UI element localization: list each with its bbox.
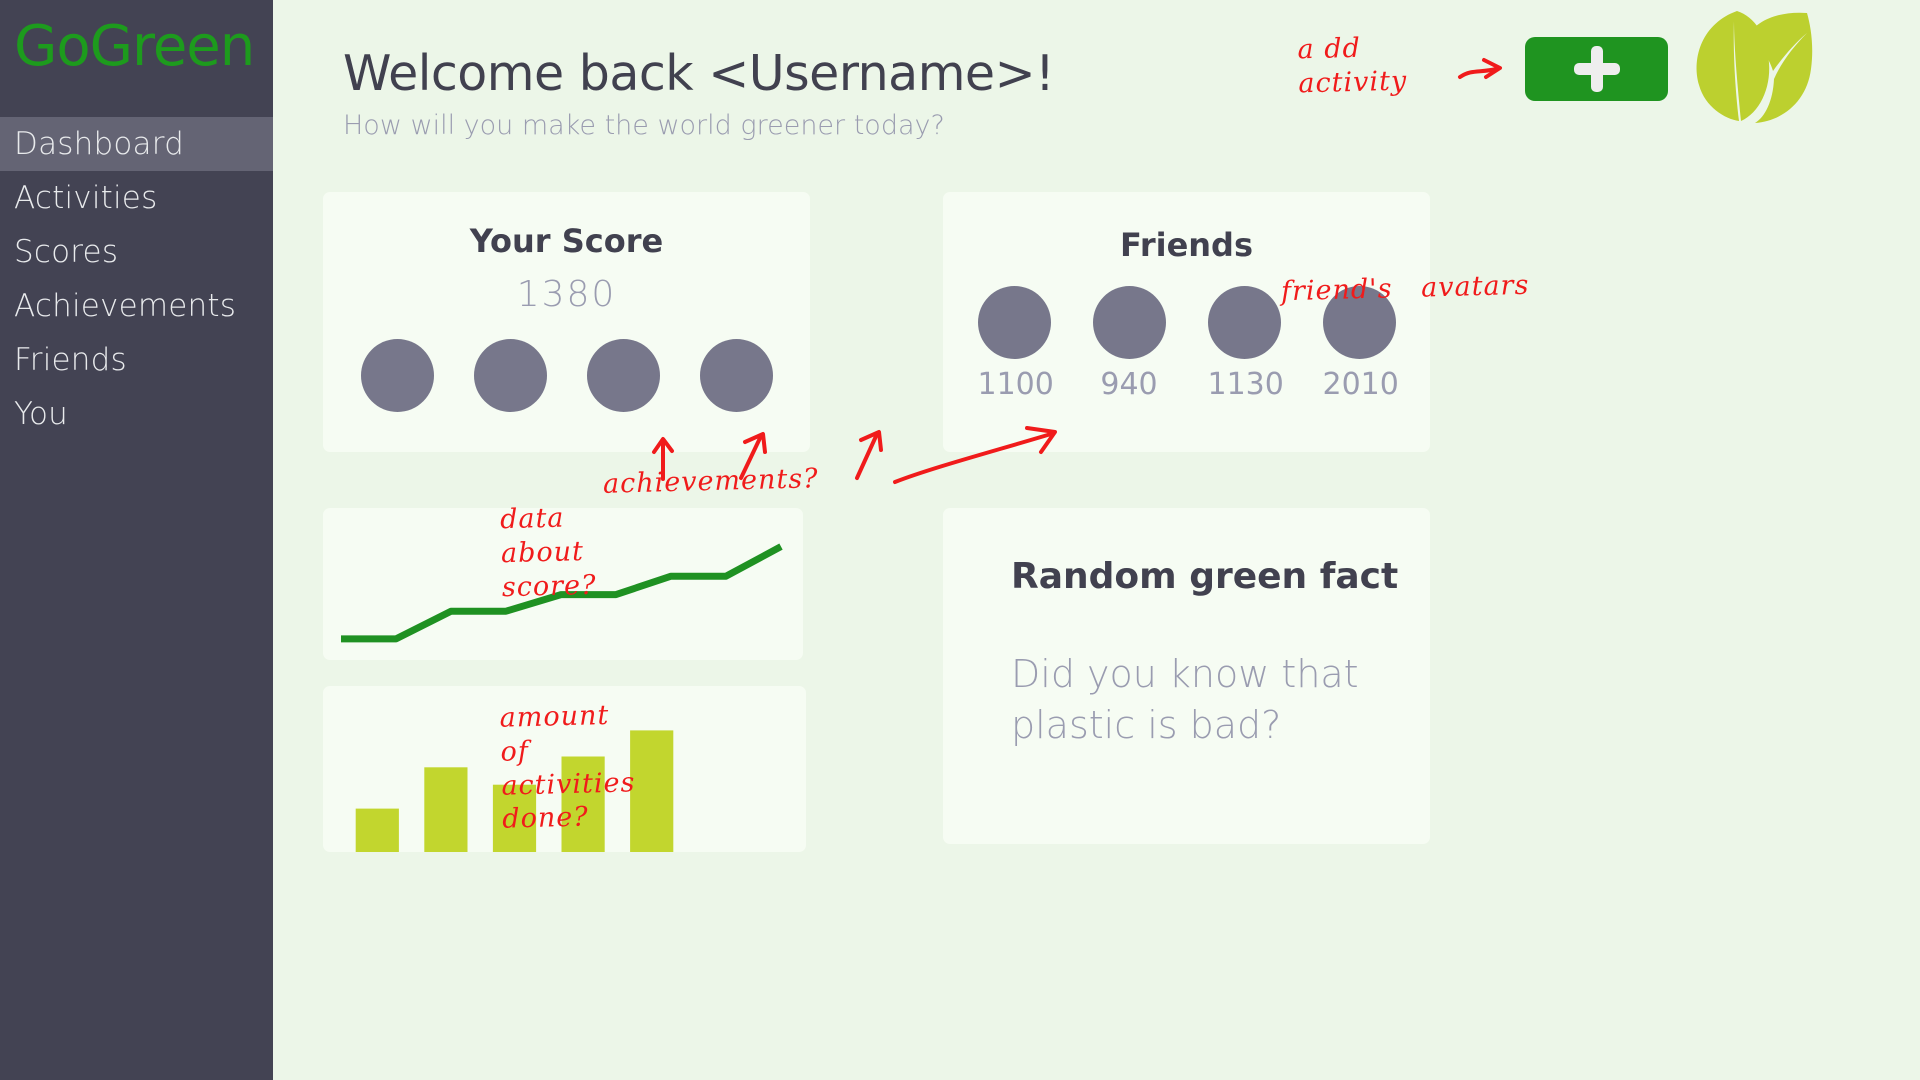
annotation-arrow-to-add-button <box>1458 55 1528 95</box>
score-value: 1380 <box>323 274 810 315</box>
add-activity-button[interactable] <box>1525 37 1668 101</box>
sidebar-item-label: Scores <box>14 234 118 270</box>
sidebar-item-label: Friends <box>14 342 127 378</box>
sidebar-item-activities[interactable]: Activities <box>0 171 273 225</box>
friend-score: 1130 <box>1208 367 1281 402</box>
brand-logo-text: GoGreen <box>0 0 273 79</box>
main-content: Welcome back <Username>! How will you ma… <box>273 0 1920 1080</box>
plus-icon <box>1591 46 1603 92</box>
annotation-score-data: data about score? <box>500 501 597 605</box>
achievement-badge[interactable] <box>361 339 434 412</box>
avatar <box>1093 286 1166 359</box>
sidebar-item-label: Achievements <box>14 288 236 324</box>
achievement-badge-row <box>323 339 810 412</box>
leaf-logo-icon <box>1685 5 1815 123</box>
page-subtitle: How will you make the world greener toda… <box>343 110 945 141</box>
score-card: Your Score 1380 <box>323 192 810 452</box>
sidebar-item-label: You <box>14 396 68 432</box>
friends-card: Friends 1100 940 1130 2010 <box>943 192 1430 452</box>
sidebar-item-label: Activities <box>14 180 157 216</box>
sidebar-item-scores[interactable]: Scores <box>0 225 273 279</box>
avatar <box>1208 286 1281 359</box>
avatar <box>978 286 1051 359</box>
friend-score: 1100 <box>978 367 1051 402</box>
bar <box>630 730 673 852</box>
score-card-title: Your Score <box>323 222 810 260</box>
achievement-badge[interactable] <box>587 339 660 412</box>
sidebar-item-friends[interactable]: Friends <box>0 333 273 387</box>
annotation-friends-avatars: friend's avatars <box>1281 269 1530 309</box>
sidebar-item-achievements[interactable]: Achievements <box>0 279 273 333</box>
achievement-badge[interactable] <box>700 339 773 412</box>
annotation-arrow-badge-2 <box>735 430 779 482</box>
bar <box>424 767 467 852</box>
green-fact-body: Did you know that plastic is bad? <box>1011 649 1401 750</box>
friend-item[interactable]: 1100 <box>978 286 1051 402</box>
achievement-badge[interactable] <box>474 339 547 412</box>
green-fact-title: Random green fact <box>1011 556 1430 597</box>
friend-item[interactable]: 1130 <box>1208 286 1281 402</box>
sidebar-nav: Dashboard Activities Scores Achievements… <box>0 117 273 441</box>
page-title: Welcome back <Username>! <box>343 45 1054 102</box>
sidebar-item-label: Dashboard <box>14 126 184 162</box>
annotation-achievements: achievements? <box>603 462 819 501</box>
green-fact-card: Random green fact Did you know that plas… <box>943 508 1430 844</box>
sidebar: GoGreen Dashboard Activities Scores Achi… <box>0 0 273 1080</box>
annotation-activities-amount: amount of activities done? <box>499 698 636 836</box>
bar <box>356 809 399 852</box>
annotation-arrow-badge-1 <box>651 435 691 481</box>
friend-item[interactable]: 940 <box>1093 286 1166 402</box>
friend-score: 940 <box>1093 367 1166 402</box>
annotation-add-activity: a dd activity <box>1297 31 1407 101</box>
sidebar-item-you[interactable]: You <box>0 387 273 441</box>
sidebar-item-dashboard[interactable]: Dashboard <box>0 117 273 171</box>
annotation-arrow-badge-4 <box>891 426 1081 486</box>
friends-card-title: Friends <box>943 226 1430 264</box>
annotation-arrow-badge-3 <box>851 428 895 482</box>
friend-score: 2010 <box>1323 367 1396 402</box>
